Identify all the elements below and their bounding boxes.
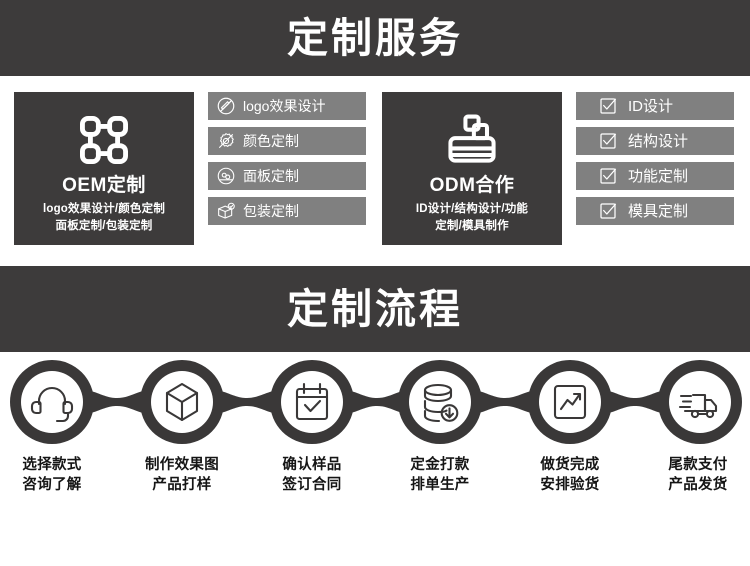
- oem-card: OEM定制 logo效果设计/颜色定制 面板定制/包装定制: [14, 92, 194, 245]
- oem-card-subtitle-line1: logo效果设计/颜色定制: [37, 201, 171, 218]
- section-banner-process: 定制流程: [0, 266, 750, 352]
- checkbox-checked-icon: [598, 201, 618, 221]
- command-grid-icon: [73, 110, 135, 170]
- oem-list-item-label: 颜色定制: [243, 134, 299, 148]
- process-step-line1: 尾款支付: [623, 456, 750, 476]
- service-blocks-row: OEM定制 logo效果设计/颜色定制 面板定制/包装定制 logo效果设计: [0, 78, 750, 264]
- oem-list-item[interactable]: 颜色定制: [208, 127, 366, 155]
- odm-card-title: ODM合作: [430, 176, 515, 197]
- odm-list-item-label: ID设计: [628, 99, 673, 114]
- section-title-service: 定制服务: [287, 18, 463, 59]
- odm-card-subtitle-line2: 定制/模具制作: [429, 218, 515, 235]
- checkbox-checked-icon: [598, 96, 618, 116]
- oem-list-item[interactable]: logo效果设计: [208, 92, 366, 120]
- oem-card-title: OEM定制: [62, 176, 146, 197]
- odm-list-item-label: 功能定制: [628, 169, 688, 184]
- process-chain-graphic: [0, 352, 750, 452]
- pencil-circle-icon: [216, 96, 236, 116]
- process-step-labels: 选择款式 咨询了解 制作效果图 产品打样 确认样品 签订合同 定金打款 排单生产…: [0, 452, 750, 522]
- oem-list-item-label: logo效果设计: [243, 99, 325, 113]
- oem-list-item-label: 包装定制: [243, 204, 299, 218]
- oem-card-subtitle-line2: 面板定制/包装定制: [50, 218, 159, 235]
- section-title-process: 定制流程: [287, 289, 463, 330]
- process-step-line1: 定金打款: [365, 456, 515, 476]
- checkbox-checked-icon: [598, 131, 618, 151]
- oem-feature-list: logo效果设计 颜色定制: [208, 92, 366, 225]
- odm-feature-list: ID设计 结构设计 功能定制: [576, 92, 734, 225]
- odm-list-item[interactable]: 模具定制: [576, 197, 734, 225]
- odm-list-item-label: 模具定制: [628, 204, 688, 219]
- process-step-line2: 排单生产: [365, 476, 515, 496]
- odm-card-subtitle-line1: ID设计/结构设计/功能: [410, 201, 534, 218]
- package-check-icon: [216, 201, 236, 221]
- odm-card: ODM合作 ID设计/结构设计/功能 定制/模具制作: [382, 92, 562, 245]
- process-step-label: 定金打款 排单生产: [365, 456, 515, 495]
- odm-list-item-label: 结构设计: [628, 134, 688, 149]
- process-step-line2: 产品打样: [107, 476, 257, 496]
- odm-list-item[interactable]: ID设计: [576, 92, 734, 120]
- process-flow: 选择款式 咨询了解 制作效果图 产品打样 确认样品 签订合同 定金打款 排单生产…: [0, 352, 750, 566]
- process-step-line1: 制作效果图: [107, 456, 257, 476]
- oem-list-item[interactable]: 面板定制: [208, 162, 366, 190]
- checkbox-checked-icon: [598, 166, 618, 186]
- odm-list-item[interactable]: 结构设计: [576, 127, 734, 155]
- section-banner-service: 定制服务: [0, 0, 750, 76]
- process-step-label: 尾款支付 产品发货: [623, 456, 750, 495]
- process-step-line2: 产品发货: [623, 476, 750, 496]
- promo-page: 定制服务 OEM定制 logo效果设计/颜色定制 面板定制/包装定制: [0, 0, 750, 566]
- panel-circle-icon: [216, 166, 236, 186]
- stacked-layers-printer-icon: [441, 110, 503, 170]
- gear-slash-icon: [216, 131, 236, 151]
- oem-list-item-label: 面板定制: [243, 169, 299, 183]
- process-step-label: 制作效果图 产品打样: [107, 456, 257, 495]
- oem-list-item[interactable]: 包装定制: [208, 197, 366, 225]
- odm-list-item[interactable]: 功能定制: [576, 162, 734, 190]
